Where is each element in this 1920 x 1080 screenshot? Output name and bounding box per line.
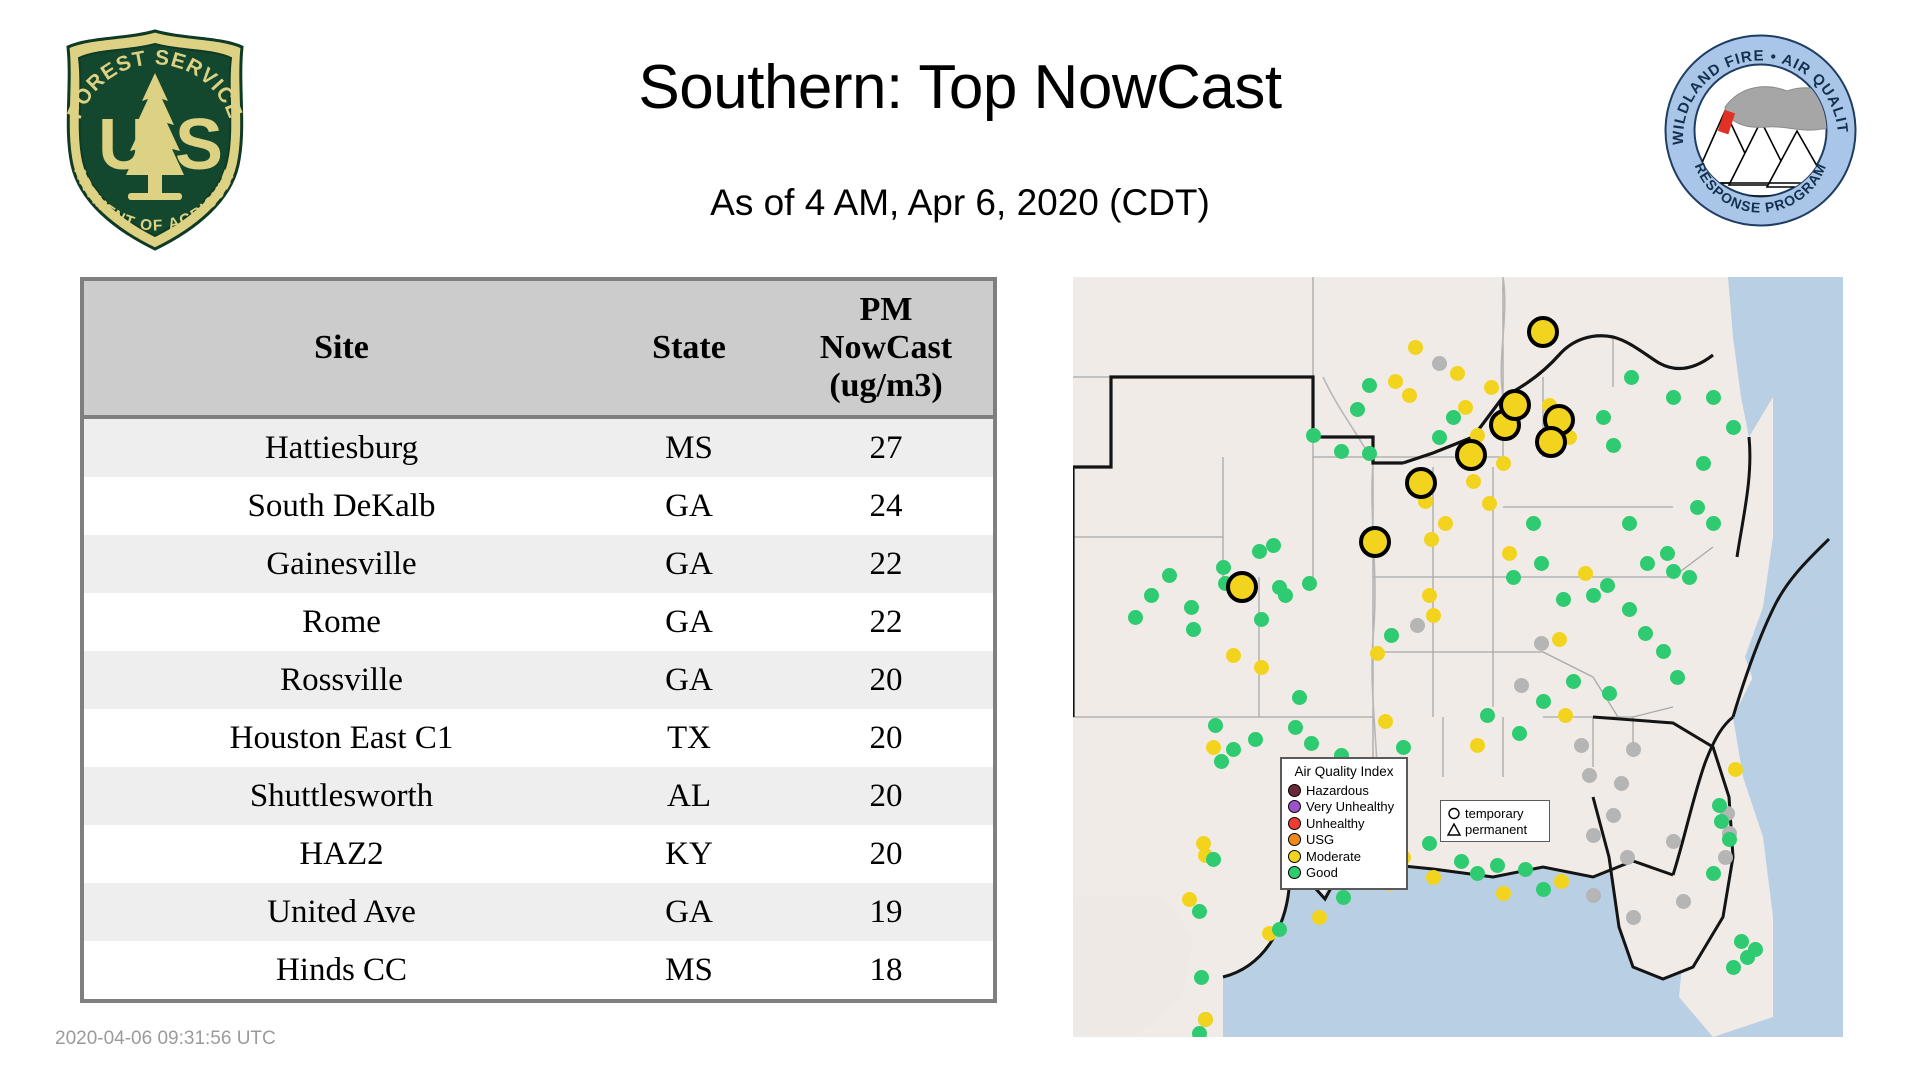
map-monitor-dot[interactable] (1362, 378, 1377, 393)
map-monitor-dot[interactable] (1656, 644, 1671, 659)
map-monitor-dot[interactable] (1554, 874, 1569, 889)
map-monitor-dot[interactable] (1208, 718, 1223, 733)
map-monitor-dot[interactable] (1706, 866, 1721, 881)
cell-state: TX (599, 709, 779, 767)
table-header-row: Site State PM NowCast (ug/m3) (84, 281, 993, 417)
cell-state: GA (599, 883, 779, 941)
aqi-swatch-icon (1288, 817, 1301, 830)
cell-pm-nowcast: 18 (779, 941, 993, 999)
page-subtitle: As of 4 AM, Apr 6, 2020 (CDT) (0, 182, 1920, 224)
map-monitor-dot[interactable] (1484, 380, 1499, 395)
pm-header-line1: PM (860, 291, 913, 328)
cell-state: MS (599, 941, 779, 999)
cell-site: Rome (84, 593, 599, 651)
map-monitor-dot[interactable] (1722, 832, 1737, 847)
legend-label-temporary: temporary (1465, 807, 1524, 820)
map-top-site-marker[interactable] (1226, 571, 1258, 603)
map-monitor-dot[interactable] (1470, 866, 1485, 881)
map-monitor-dot[interactable] (1198, 1012, 1213, 1027)
map-top-site-marker[interactable] (1499, 389, 1531, 421)
map-monitor-dot[interactable] (1718, 850, 1733, 865)
map-monitor-dot[interactable] (1426, 870, 1441, 885)
aqi-legend-row: Very Unhealthy (1288, 799, 1400, 816)
map-monitor-dot[interactable] (1706, 516, 1721, 531)
cell-pm-nowcast: 20 (779, 651, 993, 709)
map-monitor-dot[interactable] (1384, 628, 1399, 643)
cell-site: South DeKalb (84, 477, 599, 535)
map-monitor-dot[interactable] (1582, 768, 1597, 783)
map-monitor-dot[interactable] (1512, 726, 1527, 741)
cell-state: GA (599, 651, 779, 709)
map-monitor-dot[interactable] (1622, 602, 1637, 617)
cell-pm-nowcast: 22 (779, 593, 993, 651)
aqi-legend-label: Moderate (1306, 850, 1361, 863)
map-monitor-dot[interactable] (1626, 742, 1641, 757)
map-monitor-dot[interactable] (1396, 740, 1411, 755)
cell-site: Shuttlesworth (84, 767, 599, 825)
cell-site: Gainesville (84, 535, 599, 593)
map-monitor-dot[interactable] (1432, 356, 1447, 371)
map-monitor-dot[interactable] (1424, 532, 1439, 547)
aqi-legend-row: USG (1288, 832, 1400, 849)
map-monitor-dot[interactable] (1466, 474, 1481, 489)
map-monitor-dot[interactable] (1336, 890, 1351, 905)
map-monitor-dot[interactable] (1334, 444, 1349, 459)
map-monitor-dot[interactable] (1600, 578, 1615, 593)
cell-pm-nowcast: 20 (779, 825, 993, 883)
map-monitor-dot[interactable] (1666, 564, 1681, 579)
map-monitor-dot[interactable] (1526, 516, 1541, 531)
map-monitor-dot[interactable] (1438, 516, 1453, 531)
cell-site: United Ave (84, 883, 599, 941)
cell-pm-nowcast: 22 (779, 535, 993, 593)
map-monitor-dot[interactable] (1206, 852, 1221, 867)
cell-state: GA (599, 593, 779, 651)
map-monitor-dot[interactable] (1586, 888, 1601, 903)
map-monitor-dot[interactable] (1552, 632, 1567, 647)
map-monitor-dot[interactable] (1162, 568, 1177, 583)
map-monitor-dot[interactable] (1558, 708, 1573, 723)
cell-pm-nowcast: 20 (779, 767, 993, 825)
aqi-legend-label: Unhealthy (1306, 817, 1365, 830)
aqi-legend-row: Good (1288, 865, 1400, 882)
map-monitor-dot[interactable] (1192, 904, 1207, 919)
map-monitor-dot[interactable] (1712, 798, 1727, 813)
table-row: United AveGA19 (84, 883, 993, 941)
legend-row-temporary: temporary (1446, 805, 1544, 821)
triangle-icon (1446, 822, 1462, 837)
map-monitor-dot[interactable] (1458, 400, 1473, 415)
table-body: HattiesburgMS27South DeKalbGA24Gainesvil… (84, 417, 993, 999)
map-monitor-dot[interactable] (1534, 636, 1549, 651)
map-monitor-dot[interactable] (1292, 690, 1307, 705)
map-monitor-dot[interactable] (1214, 754, 1229, 769)
cell-site: Hinds CC (84, 941, 599, 999)
aqi-swatch-icon (1288, 866, 1301, 879)
map-monitor-dot[interactable] (1378, 714, 1393, 729)
table-row: HattiesburgMS27 (84, 417, 993, 477)
map-monitor-dot[interactable] (1272, 580, 1287, 595)
cell-pm-nowcast: 27 (779, 417, 993, 477)
table-row: Houston East C1TX20 (84, 709, 993, 767)
aqi-swatch-icon (1288, 833, 1301, 846)
map-monitor-dot[interactable] (1586, 588, 1601, 603)
map-monitor-dot[interactable] (1370, 646, 1385, 661)
map-top-site-marker[interactable] (1535, 426, 1567, 458)
table-row: GainesvilleGA22 (84, 535, 993, 593)
map-monitor-dot[interactable] (1482, 496, 1497, 511)
map-monitor-dot[interactable] (1682, 570, 1697, 585)
aqi-legend-row: Hazardous (1288, 782, 1400, 799)
table-row: ShuttlesworthAL20 (84, 767, 993, 825)
aqi-swatch-icon (1288, 800, 1301, 813)
map-monitor-dot[interactable] (1302, 576, 1317, 591)
table-row: RossvilleGA20 (84, 651, 993, 709)
cell-site: Houston East C1 (84, 709, 599, 767)
map-monitor-dot[interactable] (1402, 388, 1417, 403)
cell-state: GA (599, 535, 779, 593)
cell-state: GA (599, 477, 779, 535)
map-monitor-dot[interactable] (1536, 882, 1551, 897)
map-top-site-marker[interactable] (1527, 316, 1559, 348)
map-monitor-dot[interactable] (1506, 570, 1521, 585)
aqi-swatch-icon (1288, 850, 1301, 863)
map-monitor-dot[interactable] (1362, 446, 1377, 461)
map-monitor-dot[interactable] (1640, 556, 1655, 571)
cell-state: AL (599, 767, 779, 825)
map-top-site-marker[interactable] (1455, 439, 1487, 471)
map-monitor-dot[interactable] (1638, 626, 1653, 641)
map-monitor-dot[interactable] (1248, 732, 1263, 747)
aqi-legend-label: Good (1306, 866, 1338, 879)
cell-site: Hattiesburg (84, 417, 599, 477)
map-monitor-dot[interactable] (1596, 410, 1611, 425)
map-monitor-dot[interactable] (1676, 894, 1691, 909)
cell-state: KY (599, 825, 779, 883)
map-monitor-dot[interactable] (1454, 854, 1469, 869)
map-monitor-dot[interactable] (1566, 674, 1581, 689)
aqi-legend-label: USG (1306, 833, 1334, 846)
map-monitor-dot[interactable] (1206, 740, 1221, 755)
map-top-site-marker[interactable] (1405, 467, 1437, 499)
map-monitor-dot[interactable] (1184, 600, 1199, 615)
aqi-legend-label: Hazardous (1306, 784, 1369, 797)
map-monitor-dot[interactable] (1144, 588, 1159, 603)
column-header-pm-nowcast: PM NowCast (ug/m3) (779, 281, 993, 417)
table-row: HAZ2KY20 (84, 825, 993, 883)
legend-label-permanent: permanent (1465, 823, 1527, 836)
map-monitor-dot[interactable] (1226, 648, 1241, 663)
map-monitor-dot[interactable] (1426, 608, 1441, 623)
column-header-state: State (599, 281, 779, 417)
map-monitor-dot[interactable] (1734, 934, 1749, 949)
aqi-legend-row: Unhealthy (1288, 815, 1400, 832)
page-title: Southern: Top NowCast (0, 52, 1920, 123)
map-monitor-dot[interactable] (1606, 808, 1621, 823)
aqi-legend-row: Moderate (1288, 848, 1400, 865)
map-monitor-dot[interactable] (1496, 456, 1511, 471)
map-monitor-dot[interactable] (1620, 850, 1635, 865)
column-header-site: Site (84, 281, 599, 417)
cell-pm-nowcast: 19 (779, 883, 993, 941)
map-monitor-dot[interactable] (1606, 438, 1621, 453)
map-monitor-dot[interactable] (1690, 500, 1705, 515)
top-nowcast-table: Site State PM NowCast (ug/m3) Hattiesbur… (80, 277, 997, 1003)
cell-site: HAZ2 (84, 825, 599, 883)
map-monitor-dot[interactable] (1622, 516, 1637, 531)
table-row: RomeGA22 (84, 593, 993, 651)
map-monitor-dot[interactable] (1272, 922, 1287, 937)
aqi-legend-label: Very Unhealthy (1306, 800, 1394, 813)
map-monitor-dot[interactable] (1602, 686, 1617, 701)
map-monitor-dot[interactable] (1496, 886, 1511, 901)
map-monitor-dot[interactable] (1450, 366, 1465, 381)
map-monitor-dot[interactable] (1422, 588, 1437, 603)
monitor-dot-layer (1073, 277, 1843, 1037)
aqi-legend-title: Air Quality Index (1288, 764, 1400, 779)
map-monitor-dot[interactable] (1446, 410, 1461, 425)
legend-row-permanent: permanent (1446, 821, 1544, 837)
map-monitor-dot[interactable] (1490, 858, 1505, 873)
map-monitor-dot[interactable] (1432, 430, 1447, 445)
map-monitor-dot[interactable] (1660, 546, 1675, 561)
map-monitor-dot[interactable] (1666, 390, 1681, 405)
map-monitor-dot[interactable] (1226, 742, 1241, 757)
map-top-site-marker[interactable] (1359, 526, 1391, 558)
map-monitor-dot[interactable] (1726, 420, 1741, 435)
map-monitor-dot[interactable] (1518, 862, 1533, 877)
aqi-swatch-icon (1288, 784, 1301, 797)
map-monitor-dot[interactable] (1408, 340, 1423, 355)
pm-header-line2: NowCast (820, 329, 952, 366)
map-monitor-dot[interactable] (1254, 660, 1269, 675)
map-monitor-dot[interactable] (1350, 402, 1365, 417)
map-monitor-dot[interactable] (1128, 610, 1143, 625)
map-monitor-dot[interactable] (1726, 960, 1741, 975)
map-monitor-dot[interactable] (1480, 708, 1495, 723)
map-monitor-dot[interactable] (1556, 592, 1571, 607)
map-monitor-dot[interactable] (1534, 556, 1549, 571)
map-monitor-dot[interactable] (1574, 738, 1589, 753)
map-monitor-dot[interactable] (1422, 836, 1437, 851)
map-monitor-dot[interactable] (1696, 456, 1711, 471)
map-monitor-dot[interactable] (1670, 670, 1685, 685)
map-monitor-dot[interactable] (1502, 546, 1517, 561)
map-monitor-dot[interactable] (1586, 828, 1601, 843)
map-monitor-dot[interactable] (1410, 618, 1425, 633)
aqi-legend-items: HazardousVery UnhealthyUnhealthyUSGModer… (1288, 782, 1400, 881)
map-monitor-dot[interactable] (1706, 390, 1721, 405)
circle-icon (1446, 806, 1462, 821)
map-monitor-dot[interactable] (1388, 374, 1403, 389)
map-monitor-dot[interactable] (1624, 370, 1639, 385)
monitor-map[interactable] (1073, 277, 1843, 1037)
cell-site: Rossville (84, 651, 599, 709)
map-monitor-dot[interactable] (1304, 736, 1319, 751)
map-monitor-dot[interactable] (1194, 970, 1209, 985)
map-monitor-dot[interactable] (1266, 538, 1281, 553)
map-monitor-dot[interactable] (1714, 814, 1729, 829)
monitor-type-legend: temporary permanent (1440, 800, 1550, 842)
map-monitor-dot[interactable] (1252, 544, 1267, 559)
map-monitor-dot[interactable] (1186, 622, 1201, 637)
pm-header-line3: (ug/m3) (829, 367, 942, 404)
aqi-legend: Air Quality Index HazardousVery Unhealth… (1280, 757, 1408, 890)
map-monitor-dot[interactable] (1288, 720, 1303, 735)
table-row: Hinds CCMS18 (84, 941, 993, 999)
generation-timestamp: 2020-04-06 09:31:56 UTC (55, 1028, 276, 1050)
map-monitor-dot[interactable] (1514, 678, 1529, 693)
map-monitor-dot[interactable] (1626, 910, 1641, 925)
cell-pm-nowcast: 20 (779, 709, 993, 767)
map-monitor-dot[interactable] (1666, 834, 1681, 849)
table-row: South DeKalbGA24 (84, 477, 993, 535)
map-monitor-dot[interactable] (1470, 738, 1485, 753)
map-monitor-dot[interactable] (1728, 762, 1743, 777)
map-monitor-dot[interactable] (1748, 942, 1763, 957)
map-monitor-dot[interactable] (1614, 776, 1629, 791)
cell-pm-nowcast: 24 (779, 477, 993, 535)
map-monitor-dot[interactable] (1312, 910, 1327, 925)
map-monitor-dot[interactable] (1216, 560, 1231, 575)
map-monitor-dot[interactable] (1254, 612, 1269, 627)
map-monitor-dot[interactable] (1536, 694, 1551, 709)
map-monitor-dot[interactable] (1578, 566, 1593, 581)
cell-state: MS (599, 417, 779, 477)
map-monitor-dot[interactable] (1192, 1026, 1207, 1038)
map-monitor-dot[interactable] (1306, 428, 1321, 443)
map-monitor-dot[interactable] (1182, 892, 1197, 907)
